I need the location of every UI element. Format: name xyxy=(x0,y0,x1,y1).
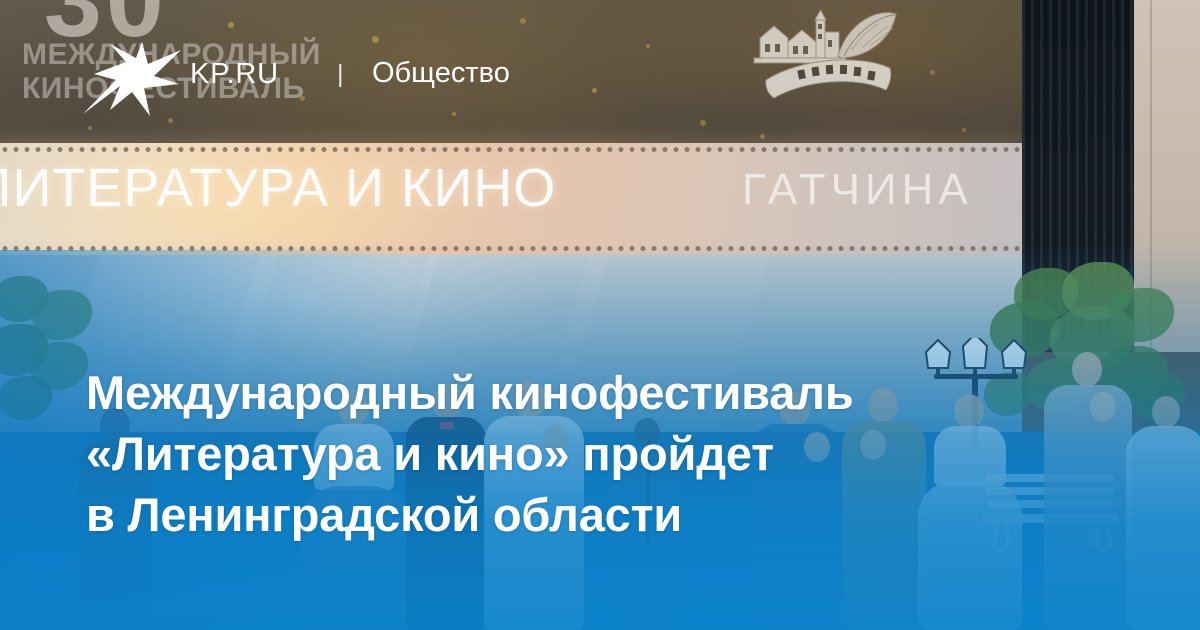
header-separator: | xyxy=(337,60,344,89)
kp-swallow-bird-icon[interactable] xyxy=(80,40,184,118)
banner-title-text: ЛИТЕРАТУРА И КИНО xyxy=(0,157,556,219)
kp-brand-label[interactable]: KP.RU xyxy=(190,58,279,91)
headline-line-2: «Литература и кино» пройдет xyxy=(86,423,1096,484)
filmstrip-perforation-bottom xyxy=(0,244,1025,253)
festival-banner: ЛИТЕРАТУРА И КИНО ГАТЧИНА xyxy=(0,143,1025,255)
page-title: Международный кинофестиваль «Литература … xyxy=(86,362,1096,545)
banner-city-text: ГАТЧИНА xyxy=(742,165,973,215)
header-bar: KP.RU | Общество xyxy=(0,0,1200,150)
performer xyxy=(1126,396,1200,630)
headline-line-1: Международный кинофестиваль xyxy=(86,362,1096,423)
share-card: 30 МЕЖДУНАРОДНЫЙ КИНОФЕСТИВАЛЬ xyxy=(0,0,1200,630)
headline-line-3: в Ленинградской области xyxy=(86,484,1096,545)
header-rubric-label[interactable]: Общество xyxy=(372,57,510,90)
